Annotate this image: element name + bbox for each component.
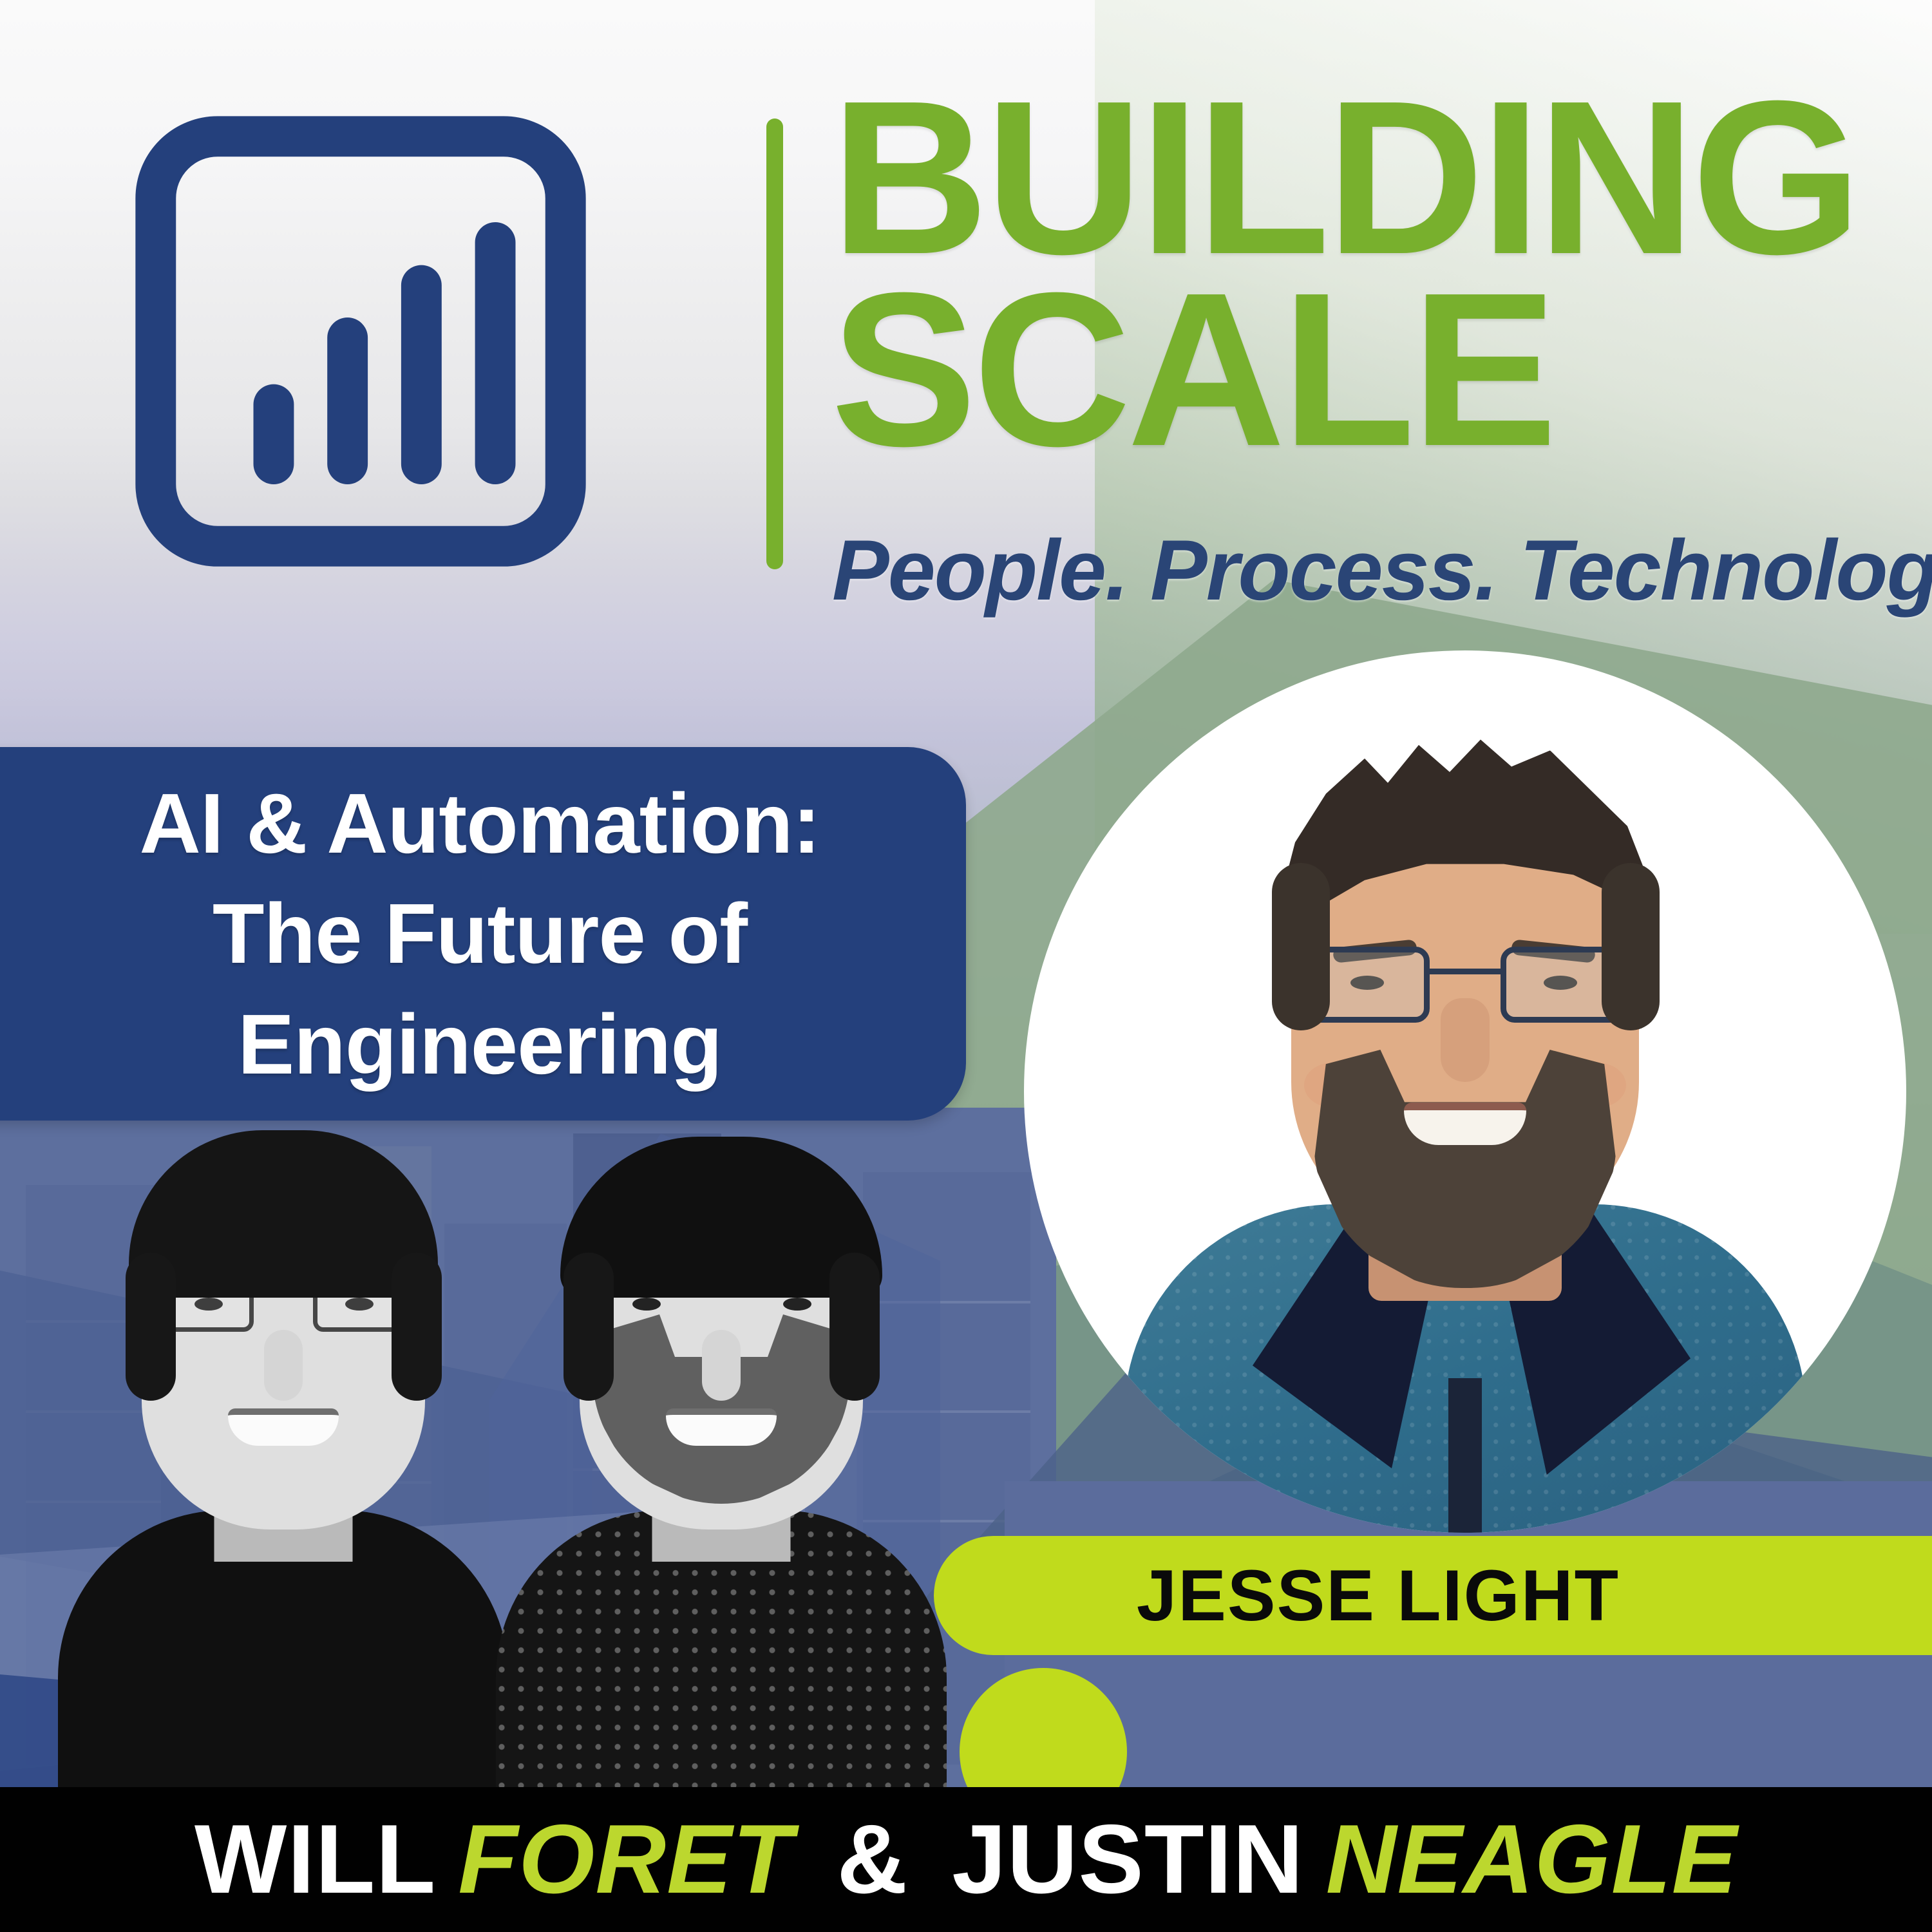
host-last-name-2: NEAGLE [1326, 1804, 1738, 1914]
brand-logo: BUILDING SCALE People. Process. Technolo… [116, 103, 1842, 580]
host-headshot-left [39, 1104, 528, 1787]
episode-title-line-3: Engineering [238, 989, 722, 1100]
host-headshot-right [477, 1104, 966, 1787]
host-first-name-2: JUSTIN [952, 1804, 1304, 1914]
guest-name-text: JESSE LIGHT [1137, 1554, 1620, 1637]
logo-divider-bar [766, 118, 783, 569]
brand-word-scale: SCALE [831, 276, 1858, 464]
host-names-line: WILLFORET&JUSTINNEAGLE [194, 1803, 1738, 1916]
host-last-name-1: FORET [458, 1804, 793, 1914]
guest-name-banner: JESSE LIGHT [934, 1536, 1932, 1655]
brand-tagline: People. Process. Technology. [832, 522, 1932, 620]
episode-title-line-2: The Future of [213, 878, 747, 989]
bar-chart-in-rounded-square-icon [116, 103, 605, 580]
brand-wordmark: BUILDING SCALE [831, 84, 1858, 464]
episode-title-line-1: AI & Automation: [140, 768, 820, 879]
episode-title-panel: AI & Automation: The Future of Engineeri… [0, 747, 966, 1121]
host-first-name-1: WILL [194, 1804, 436, 1914]
eyeglasses-icon [1294, 947, 1636, 1024]
host-names-conjunction: & [837, 1804, 908, 1914]
podcast-cover-art: BUILDING SCALE People. Process. Technolo… [0, 0, 1932, 1932]
guest-photo-circle [1024, 650, 1906, 1533]
guest-headshot [1024, 650, 1906, 1533]
host-names-bar: WILLFORET&JUSTINNEAGLE [0, 1787, 1932, 1932]
brand-word-building: BUILDING [831, 84, 1858, 272]
